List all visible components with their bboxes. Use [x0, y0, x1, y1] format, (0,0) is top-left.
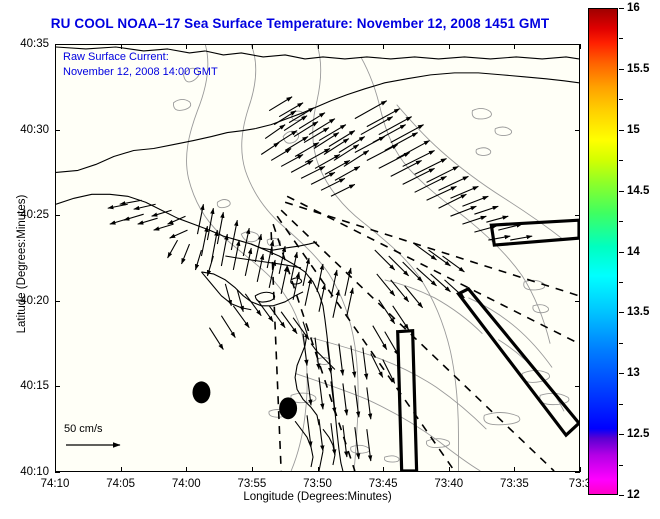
- x-axis-tick-label: 73:45: [369, 478, 398, 490]
- colorbar-tick: [619, 69, 624, 70]
- x-axis-tick: [514, 467, 515, 472]
- x-axis-tick-label: 73:50: [303, 478, 332, 490]
- x-axis-tick-label: 73:55: [237, 478, 266, 490]
- colorbar-tick-label: 15: [627, 124, 640, 136]
- colorbar-tick-label: 13.5: [627, 306, 649, 318]
- annotation-line-2: November 12, 2008 14:00 GMT: [63, 65, 218, 80]
- x-axis-tick: [121, 44, 122, 49]
- y-axis-tick-label: 40:30: [5, 124, 49, 136]
- colorbar-tick-label: 14.5: [627, 185, 649, 197]
- x-axis-tick: [449, 44, 450, 49]
- map-plot-area[interactable]: Raw Surface Current: November 12, 2008 1…: [55, 44, 580, 472]
- colorbar-tick: [619, 434, 624, 435]
- map-canvas: [56, 45, 579, 471]
- x-axis-tick: [318, 467, 319, 472]
- vector-scale-label: 50 cm/s: [64, 423, 130, 435]
- y-axis-tick-label: 40:35: [5, 38, 49, 50]
- x-axis-tick-label: 73:40: [434, 478, 463, 490]
- colorbar-minor-tick: [619, 99, 623, 100]
- y-axis-tick: [575, 301, 580, 302]
- dashed-radial-lines: [271, 196, 579, 471]
- colorbar-minor-tick: [619, 465, 623, 466]
- colorbar-minor-tick: [619, 38, 623, 39]
- annotation-line-1: Raw Surface Current:: [63, 50, 218, 65]
- station-marker: [192, 381, 210, 403]
- colorbar-tick: [619, 8, 624, 9]
- y-axis-tick: [575, 44, 580, 45]
- shipping-lanes: [398, 220, 579, 471]
- plot-annotation: Raw Surface Current: November 12, 2008 1…: [63, 50, 218, 80]
- colorbar-tick: [619, 312, 624, 313]
- x-axis-tick: [318, 44, 319, 49]
- y-axis-tick: [55, 44, 60, 45]
- x-axis-tick: [580, 44, 581, 49]
- y-axis-tick: [55, 130, 60, 131]
- colorbar-minor-tick: [619, 221, 623, 222]
- x-axis-tick-label: 73:35: [500, 478, 529, 490]
- scale-arrow-icon: [64, 439, 130, 451]
- y-axis-title: Latitude (Degrees:Minutes): [16, 164, 28, 364]
- colorbar-tick: [619, 191, 624, 192]
- y-axis-tick: [55, 215, 60, 216]
- x-axis-tick-label: 74:00: [172, 478, 201, 490]
- colorbar-minor-tick: [619, 282, 623, 283]
- y-axis-tick: [55, 386, 60, 387]
- x-axis-tick: [514, 44, 515, 49]
- page-title: RU COOL NOAA–17 Sea Surface Temperature:…: [0, 16, 600, 31]
- y-axis-tick: [55, 472, 60, 473]
- colorbar-tick: [619, 495, 624, 496]
- colorbar-tick: [619, 130, 624, 131]
- y-axis-tick: [575, 215, 580, 216]
- x-axis-tick-label: 74:05: [106, 478, 135, 490]
- x-axis-tick-label: 74:10: [41, 478, 70, 490]
- colorbar-tick-label: 12.5: [627, 428, 649, 440]
- colorbar-minor-tick: [619, 404, 623, 405]
- colorbar-tick-label: 15.5: [627, 63, 649, 75]
- colorbar-minor-tick: [619, 343, 623, 344]
- y-axis-tick: [575, 130, 580, 131]
- station-markers[interactable]: [192, 381, 297, 419]
- x-axis-tick: [121, 467, 122, 472]
- colorbar-tick: [619, 252, 624, 253]
- colorbar-tick: [619, 373, 624, 374]
- colorbar: [588, 8, 618, 495]
- colorbar-tick-label: 14: [627, 246, 640, 258]
- surface-current-vectors: [108, 97, 532, 461]
- vector-scale-legend: 50 cm/s: [64, 423, 130, 456]
- x-axis-tick: [252, 44, 253, 49]
- x-axis-tick: [449, 467, 450, 472]
- x-axis-title: Longitude (Degrees:Minutes): [55, 491, 580, 503]
- y-axis-tick-label: 40:15: [5, 380, 49, 392]
- x-axis-tick: [186, 44, 187, 49]
- x-axis-tick: [580, 467, 581, 472]
- x-axis-tick: [383, 467, 384, 472]
- y-axis-tick-label: 40:10: [5, 466, 49, 478]
- y-axis-tick: [575, 472, 580, 473]
- y-axis-tick: [55, 301, 60, 302]
- y-axis-tick: [575, 386, 580, 387]
- station-marker: [279, 397, 297, 419]
- colorbar-tick-label: 16: [627, 2, 640, 14]
- x-axis-tick: [383, 44, 384, 49]
- colorbar-tick-label: 13: [627, 367, 640, 379]
- colorbar-tick-label: 12: [627, 489, 640, 501]
- x-axis-tick: [186, 467, 187, 472]
- colorbar-minor-tick: [619, 160, 623, 161]
- x-axis-tick: [252, 467, 253, 472]
